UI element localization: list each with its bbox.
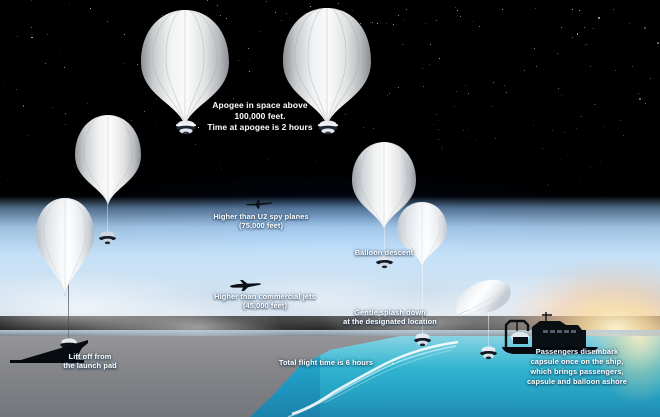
capsule-ascent-left	[98, 230, 117, 245]
u2-spy-plane-icon	[245, 199, 273, 210]
label-passengers-disembark: Passengers disembark capsule once on the…	[504, 347, 650, 386]
balloon-descent-mid	[395, 200, 449, 268]
label-total-flight-time: Total flight time is 6 hours	[240, 358, 412, 367]
balloon-launch-ascending	[33, 196, 97, 296]
capsule-splashdown	[479, 345, 498, 360]
surf-line	[230, 340, 460, 417]
infographic-scene: Apogee in space above 100,000 feet. Time…	[0, 0, 660, 417]
label-apogee: Apogee in space above 100,000 feet. Time…	[148, 100, 372, 132]
balloon-ascent-left	[73, 113, 143, 205]
label-lift-off: Lift off from the launch pad	[24, 352, 156, 371]
label-splash-down: Gentle splash down at the designated loc…	[318, 308, 462, 327]
label-u2-spy-planes: Higher than U2 spy planes (75,000 feet)	[176, 212, 346, 231]
label-balloon-descent: Balloon descent	[326, 248, 442, 257]
capsule-descent-lower	[413, 332, 432, 347]
commercial-jet-icon	[228, 279, 262, 292]
